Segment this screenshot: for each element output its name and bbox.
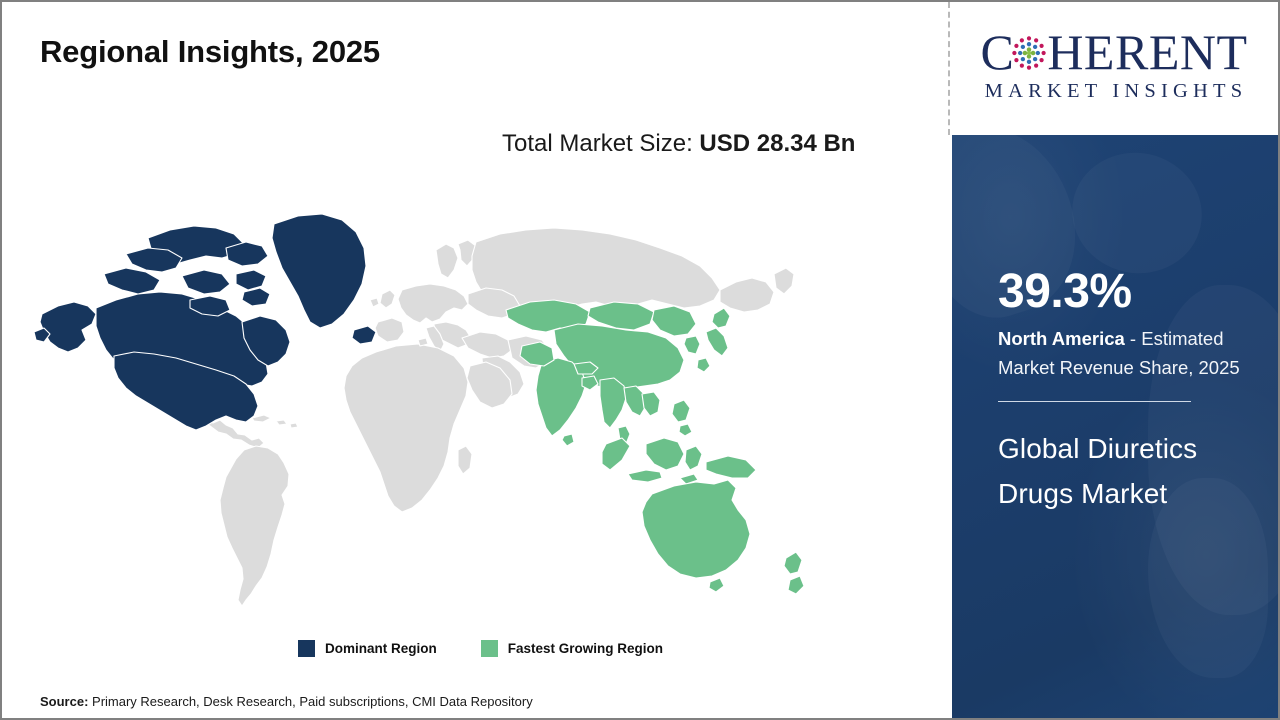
map-region-north-america <box>34 214 376 430</box>
total-market-size: Total Market Size: USD 28.34 Bn <box>502 127 906 161</box>
regional-insights-infographic: Regional Insights, 2025 Total Market Siz… <box>0 0 1280 720</box>
stat-caption: North America - Estimated Market Revenue… <box>998 325 1256 382</box>
square-swatch-icon <box>298 640 315 657</box>
source-text: Primary Research, Desk Research, Paid su… <box>88 694 532 709</box>
legend-label-dominant-region: Dominant Region <box>325 641 437 656</box>
logo-wordmark: C <box>962 26 1266 78</box>
panel-texture-b <box>1061 141 1213 285</box>
map-legend: Dominant Region Fastest Growing Region <box>298 640 663 657</box>
total-market-size-label: Total Market Size: <box>502 130 699 157</box>
world-map-svg <box>30 182 848 622</box>
coherent-market-insights-logo: C <box>962 26 1266 112</box>
stat-divider-line <box>998 401 1191 402</box>
source-note: Source: Primary Research, Desk Research,… <box>40 694 533 709</box>
total-market-size-value: USD 28.34 Bn <box>699 130 855 157</box>
left-content-panel: Regional Insights, 2025 Total Market Siz… <box>2 2 948 718</box>
market-name: Global Diuretics Drugs Market <box>998 426 1256 517</box>
logo-wordmark-rest: HERENT <box>1047 27 1247 77</box>
square-swatch-icon <box>481 640 498 657</box>
page-title: Regional Insights, 2025 <box>40 34 380 70</box>
logo-tagline: MARKET INSIGHTS <box>962 80 1266 103</box>
legend-item-dominant-region: Dominant Region <box>298 640 437 657</box>
stat-percentage: 39.3% <box>998 267 1256 317</box>
regional-stat-panel: 39.3% North America - Estimated Market R… <box>952 135 1278 718</box>
vertical-dashed-divider <box>948 2 950 135</box>
stat-panel-content: 39.3% North America - Estimated Market R… <box>998 267 1256 517</box>
source-label: Source: <box>40 694 88 709</box>
legend-label-fastest-growing-region: Fastest Growing Region <box>508 641 663 656</box>
map-region-asia-pacific <box>506 300 804 594</box>
logo-letter-c: C <box>980 27 1014 77</box>
globe-dots-icon <box>1012 36 1046 70</box>
legend-item-fastest-growing-region: Fastest Growing Region <box>481 640 663 657</box>
world-map <box>30 182 848 622</box>
stat-region-name: North America <box>998 328 1125 349</box>
